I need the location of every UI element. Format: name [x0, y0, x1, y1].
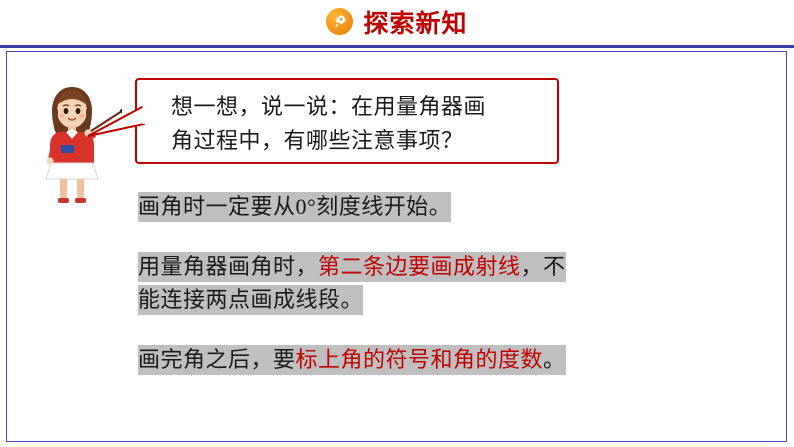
speech-bubble-line-2: 角过程中，有哪些注意事项？	[171, 124, 543, 158]
statement-2-part-2: 第二条边要画成射线	[318, 254, 521, 279]
statement-1: 画角时一定要从0°刻度线开始。	[138, 190, 451, 223]
statement-2-line-2-text: 能连接两点画成线段。	[138, 285, 363, 315]
page-header: 探索新知	[0, 0, 794, 47]
speech-bubble-line-1: 想一想，说一说：在用量角器画	[171, 90, 543, 124]
header-inner: 探索新知	[326, 4, 467, 40]
statement-2-line-1: 用量角器画角时，第二条边要画成射线，不	[138, 250, 566, 283]
statement-3: 画完角之后，要标上角的符号和角的度数。	[138, 343, 566, 376]
statement-3-part-1: 画完角之后，要	[138, 347, 296, 372]
header-divider	[0, 45, 794, 48]
speech-bubble: 想一想，说一说：在用量角器画 角过程中，有哪些注意事项？	[135, 78, 559, 164]
rocket-icon	[326, 8, 353, 35]
statement-2-line-2: 能连接两点画成线段。	[138, 283, 363, 316]
statement-3-text: 画完角之后，要标上角的符号和角的度数。	[138, 345, 566, 375]
statement-2-part-1: 用量角器画角时，	[138, 254, 318, 279]
statement-1-text: 画角时一定要从0°刻度线开始。	[138, 192, 451, 222]
statement-3-part-3: 。	[543, 347, 566, 372]
teacher-illustration	[36, 75, 122, 207]
page-title: 探索新知	[363, 4, 467, 40]
statement-2-part-3: ，不	[521, 254, 566, 279]
statement-2-line-1-text: 用量角器画角时，第二条边要画成射线，不	[138, 252, 566, 282]
speech-bubble-text: 想一想，说一说：在用量角器画 角过程中，有哪些注意事项？	[171, 90, 543, 158]
statement-3-part-2: 标上角的符号和角的度数	[296, 347, 544, 372]
